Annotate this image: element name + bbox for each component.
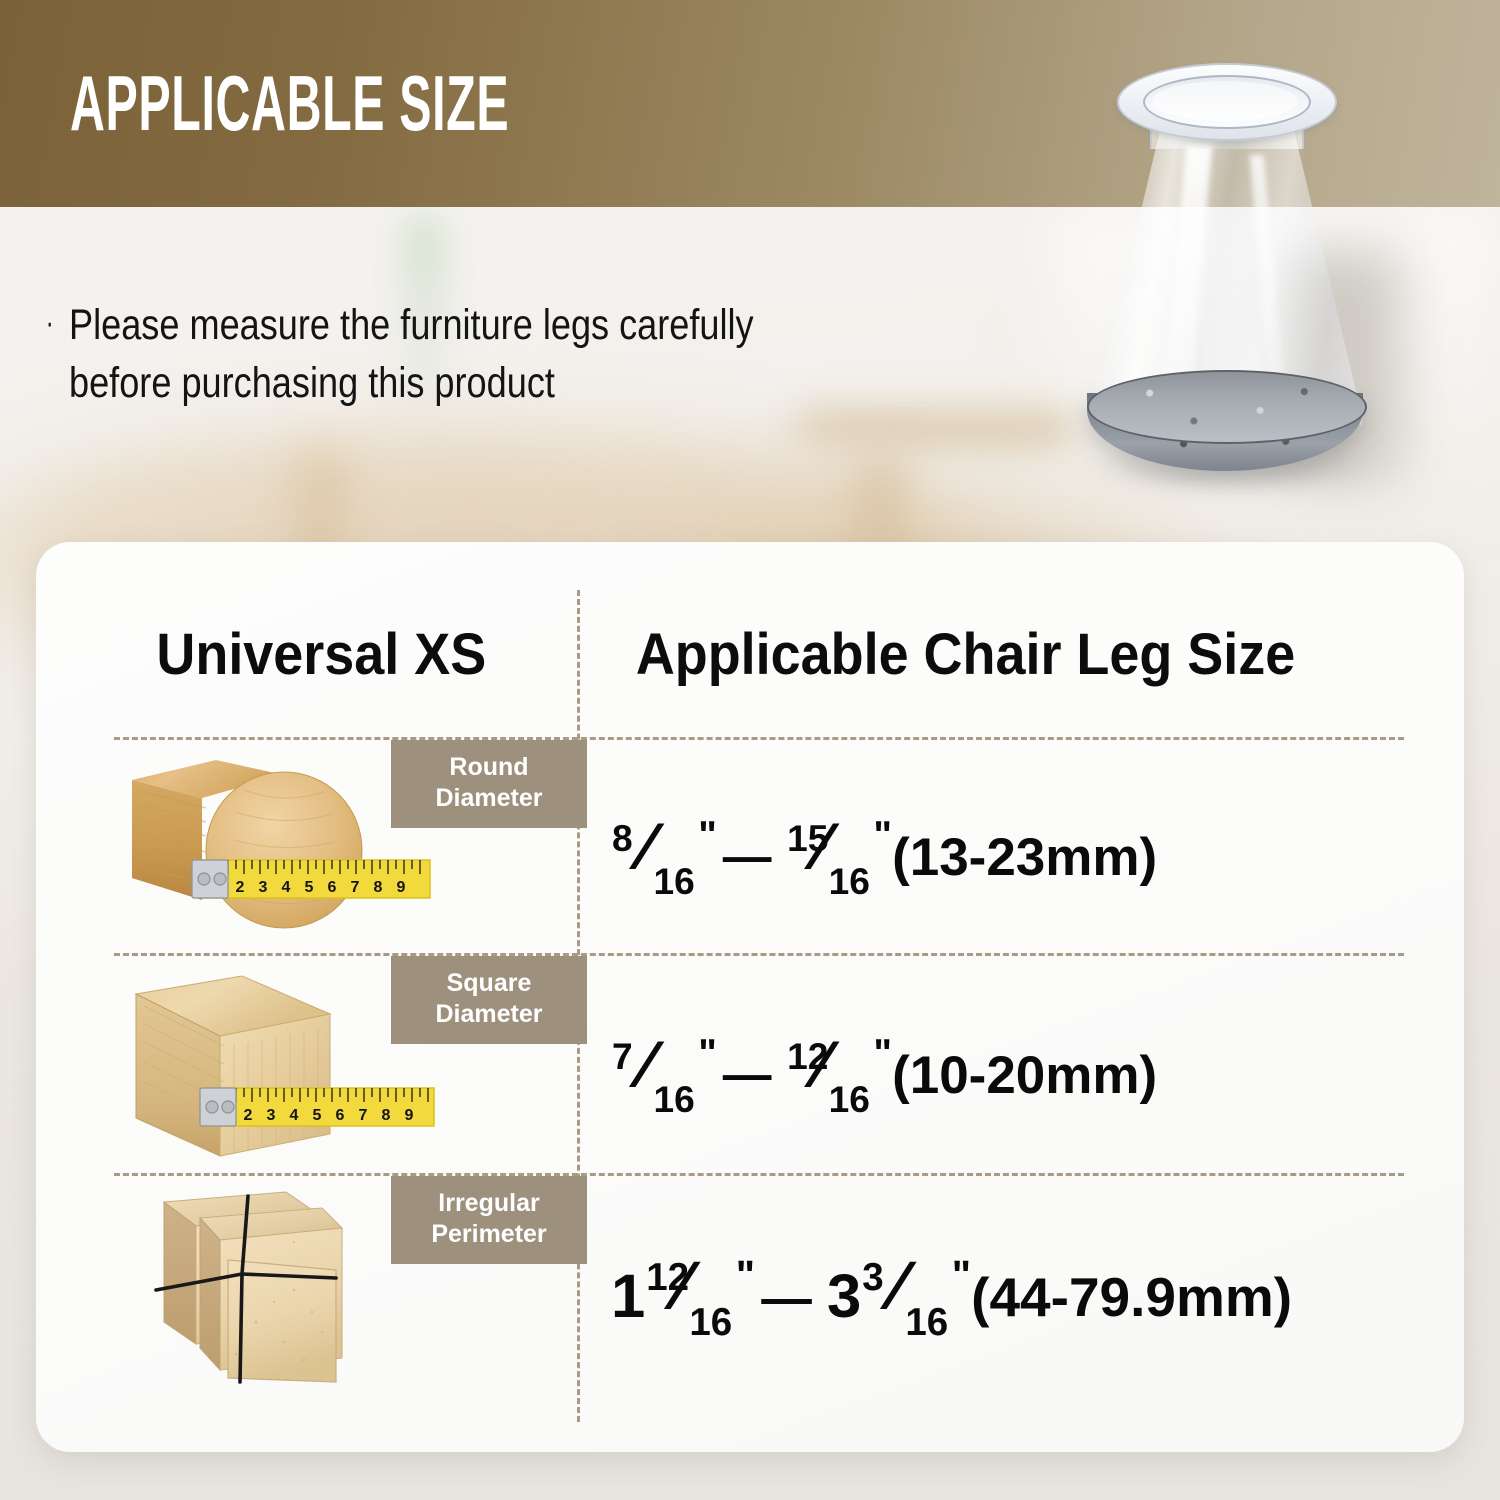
- svg-text:7: 7: [359, 1107, 368, 1124]
- tape-measure-square: 23 45 67 89: [200, 1088, 434, 1126]
- row-separator-1: [114, 737, 1404, 740]
- svg-text:3: 3: [259, 879, 268, 896]
- to-denominator-round: 16: [829, 863, 870, 900]
- size-chart-table: Universal XS Applicable Chair Leg Size: [36, 542, 1464, 1452]
- from-denominator-irregular: 16: [689, 1304, 732, 1343]
- to-whole-irregular: 3: [827, 1266, 861, 1328]
- from-denominator-square: 16: [654, 1081, 695, 1118]
- from-unit-irregular: ": [736, 1255, 755, 1296]
- table-header-chair-leg-size: Applicable Chair Leg Size: [636, 624, 1295, 686]
- from-unit-round: ": [698, 816, 717, 855]
- measure-note: · Please measure the furniture legs care…: [44, 296, 1004, 412]
- svg-text:8: 8: [382, 1107, 391, 1124]
- to-denominator-irregular: 16: [905, 1304, 948, 1343]
- metric-square: (10-20mm): [892, 1045, 1157, 1106]
- measure-round-diameter: 8 ⁄ 16 " — 15 ⁄ 16 " (13-23mm): [611, 792, 1431, 922]
- fraction-from-round: 8 ⁄ 16 ": [611, 825, 693, 890]
- svg-text:3: 3: [267, 1107, 276, 1124]
- svg-text:6: 6: [336, 1107, 345, 1124]
- svg-text:9: 9: [405, 1107, 414, 1124]
- from-whole-irregular: 1: [611, 1266, 645, 1328]
- badge-round-diameter: Round Diameter: [391, 740, 587, 828]
- to-unit-round: ": [873, 816, 892, 855]
- from-denominator-round: 16: [654, 863, 695, 900]
- svg-text:6: 6: [328, 879, 337, 896]
- from-slash-round: ⁄: [641, 814, 652, 880]
- fraction-to-round: 15 ⁄ 16 ": [786, 825, 868, 890]
- badge-line-1: Round: [395, 752, 583, 783]
- to-slash-square: ⁄: [816, 1032, 827, 1098]
- to-slash-irregular: ⁄: [893, 1252, 904, 1321]
- to-denominator-square: 16: [829, 1081, 870, 1118]
- metric-round: (13-23mm): [892, 827, 1157, 888]
- svg-text:2: 2: [244, 1107, 253, 1124]
- svg-text:8: 8: [374, 879, 383, 896]
- fraction-to-irregular: 3 3 ⁄ 16 ": [827, 1263, 946, 1330]
- from-numerator-square: 7: [612, 1038, 633, 1075]
- fraction-to-square: 12 ⁄ 16 ": [786, 1043, 868, 1108]
- svg-text:5: 5: [305, 879, 314, 896]
- measure-irregular-perimeter: 1 12 ⁄ 16 " — 3 3 ⁄ 16 " (44-79.9mm): [611, 1232, 1431, 1362]
- badge-irregular-perimeter: Irregular Perimeter: [391, 1176, 587, 1264]
- svg-text:7: 7: [351, 879, 360, 896]
- from-slash-square: ⁄: [641, 1032, 652, 1098]
- product-image-chair-leg-cap: [1055, 45, 1395, 475]
- range-separator-irregular: —: [761, 1268, 812, 1327]
- badge-square-diameter: Square Diameter: [391, 956, 587, 1044]
- measure-note-text: Please measure the furniture legs carefu…: [69, 296, 854, 412]
- to-unit-square: ": [873, 1034, 892, 1073]
- svg-text:5: 5: [313, 1107, 322, 1124]
- badge-line-1: Square: [395, 968, 583, 999]
- svg-text:2: 2: [236, 879, 245, 896]
- badge-line-1: Irregular: [395, 1188, 583, 1219]
- from-numerator-round: 8: [612, 820, 633, 857]
- row-separator-2: [114, 953, 1404, 956]
- cap-opening: [1152, 81, 1298, 121]
- felt-pad-top: [1087, 370, 1367, 444]
- table-header-universal-xs: Universal XS: [156, 624, 486, 686]
- background-chair-back: [795, 415, 1075, 443]
- to-slash-round: ⁄: [816, 814, 827, 880]
- badge-line-2: Diameter: [395, 783, 583, 814]
- tape-measure-round: 23 45 67 89: [192, 860, 430, 898]
- to-unit-irregular: ": [952, 1255, 971, 1296]
- badge-line-2: Diameter: [395, 999, 583, 1030]
- range-separator-square: —: [723, 1047, 772, 1103]
- fraction-from-square: 7 ⁄ 16 ": [611, 1043, 693, 1108]
- svg-text:9: 9: [397, 879, 406, 896]
- bullet-icon: ·: [46, 296, 54, 350]
- from-unit-square: ": [698, 1034, 717, 1073]
- measure-square-diameter: 7 ⁄ 16 " — 12 ⁄ 16 " (10-20mm): [611, 1010, 1431, 1140]
- metric-irregular: (44-79.9mm): [971, 1265, 1292, 1329]
- badge-line-2: Perimeter: [395, 1219, 583, 1250]
- svg-text:4: 4: [290, 1107, 299, 1124]
- range-separator-round: —: [723, 829, 772, 885]
- fraction-from-irregular: 1 12 ⁄ 16 ": [611, 1263, 730, 1330]
- page-title: APPLICABLE SIZE: [70, 62, 509, 144]
- to-numerator-irregular: 3: [862, 1259, 883, 1298]
- from-slash-irregular: ⁄: [677, 1252, 688, 1321]
- row-separator-3: [114, 1173, 1404, 1176]
- svg-text:4: 4: [282, 879, 291, 896]
- size-chart-card: Universal XS Applicable Chair Leg Size: [36, 542, 1464, 1452]
